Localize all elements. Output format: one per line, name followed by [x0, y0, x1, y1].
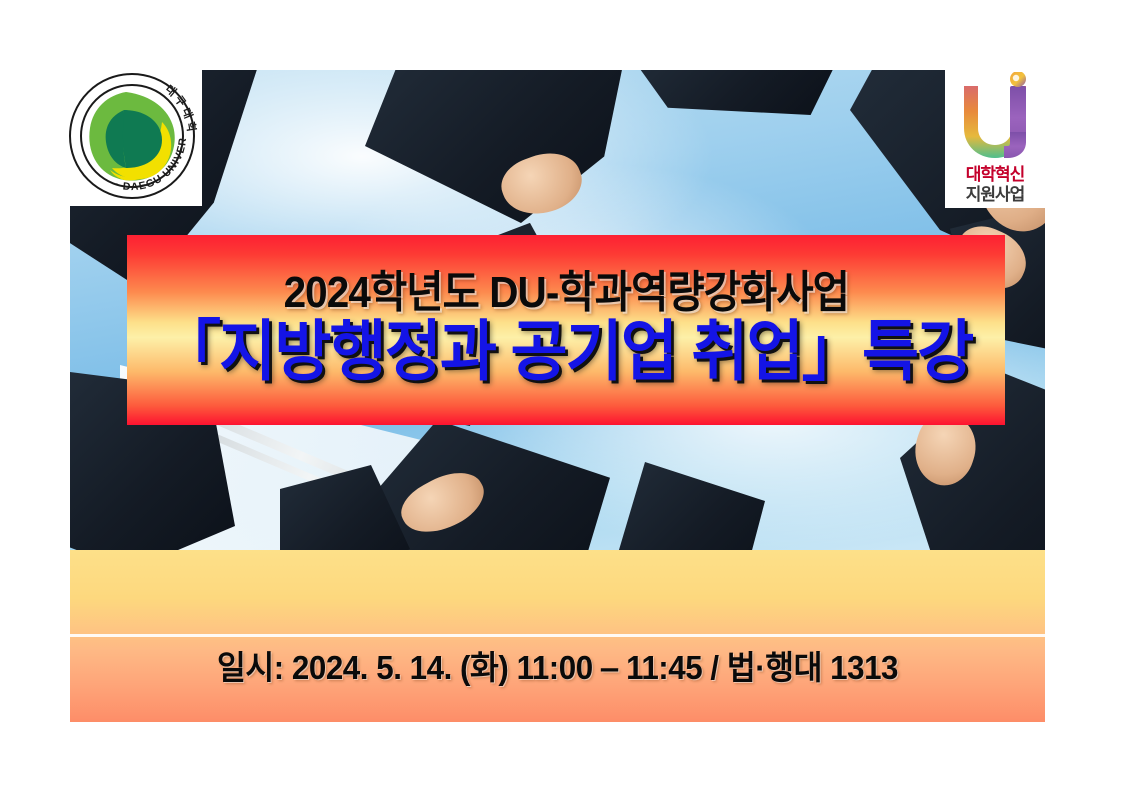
ui-logo-caption-line2: 지원사업 — [966, 186, 1025, 204]
title-line-1: 2024학년도 DU-학과역량강화사업 — [283, 268, 848, 317]
daegu-university-emblem-icon: 대 구 대 학 교 · DAEGU UNIVERSITY 1956 · — [66, 70, 198, 202]
daegu-university-logo: 대 구 대 학 교 · DAEGU UNIVERSITY 1956 · — [62, 66, 202, 206]
panel-divider — [70, 634, 1045, 637]
title-banner: 2024학년도 DU-학과역량강화사업 「지방행정과 공기업 취업」특강 — [127, 235, 1005, 425]
poster-root: 대 구 대 학 교 · DAEGU UNIVERSITY 1956 · — [0, 0, 1122, 793]
university-innovation-support-logo: 대학혁신 지원사업 — [945, 68, 1045, 208]
event-datetime-venue: 일시: 2024. 5. 14. (화) 11:00 ‒ 11:45 / 법·행… — [94, 641, 1020, 689]
ui-logo-caption-line1: 대학혁신 — [966, 166, 1025, 184]
ui-monogram-icon — [952, 72, 1038, 164]
title-line-2: 「지방행정과 공기업 취업」특강 — [159, 315, 972, 388]
